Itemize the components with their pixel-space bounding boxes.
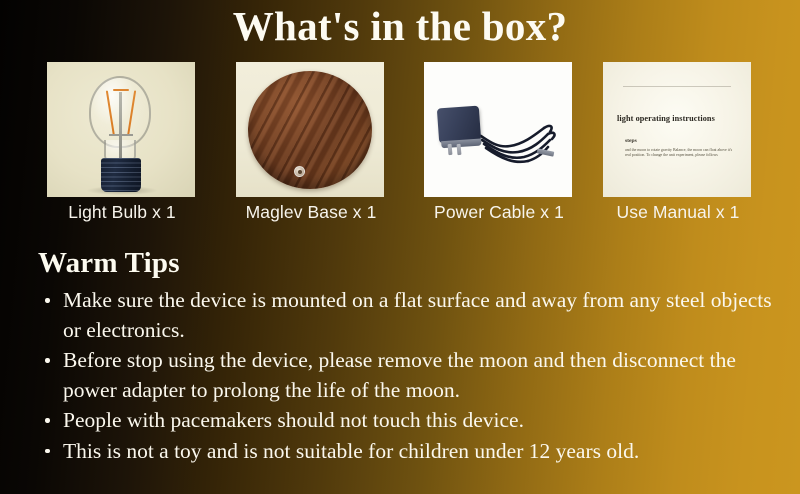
maglev-base-image xyxy=(236,62,384,197)
power-cable-image xyxy=(424,62,572,197)
use-manual-body-text: and the moon to rotate gravity Balance, … xyxy=(625,148,733,159)
product-caption: Use Manual x 1 xyxy=(603,202,753,223)
product-item-use-manual: light operating instructions steps and t… xyxy=(603,62,753,223)
product-item-power-cable: Power Cable x 1 xyxy=(424,62,574,223)
maglev-base-logo-icon xyxy=(294,166,305,177)
use-manual-subheading-text: steps xyxy=(625,138,637,144)
use-manual-backdrop xyxy=(603,62,751,197)
bullet-icon xyxy=(45,298,50,303)
use-manual-divider xyxy=(623,86,731,87)
bullet-icon xyxy=(45,449,50,454)
bullet-icon xyxy=(45,418,50,423)
product-list: Light Bulb x 1 Maglev Base x 1 xyxy=(0,62,800,227)
product-caption: Maglev Base x 1 xyxy=(236,202,386,223)
warm-tips-list: Make sure the device is mounted on a fla… xyxy=(40,286,775,467)
product-caption: Power Cable x 1 xyxy=(424,202,574,223)
maglev-base-wooden-disc xyxy=(248,71,372,189)
use-manual-image: light operating instructions steps and t… xyxy=(603,62,751,197)
light-bulb-image xyxy=(47,62,195,197)
light-bulb-stem xyxy=(119,92,122,160)
light-bulb-filament-base xyxy=(109,134,133,136)
bullet-icon xyxy=(45,358,50,363)
product-caption: Light Bulb x 1 xyxy=(47,202,197,223)
warm-tips-item-text: People with pacemakers should not touch … xyxy=(63,408,524,432)
warm-tips-heading: Warm Tips xyxy=(38,247,180,280)
product-info-banner: What's in the box? Light Bulb x 1 xyxy=(0,0,800,494)
page-title: What's in the box? xyxy=(0,2,800,50)
product-item-light-bulb: Light Bulb x 1 xyxy=(47,62,197,223)
warm-tips-item: Make sure the device is mounted on a fla… xyxy=(40,286,775,345)
power-adapter-body xyxy=(437,106,481,144)
product-item-maglev-base: Maglev Base x 1 xyxy=(236,62,386,223)
light-bulb-screw-base xyxy=(101,158,141,192)
warm-tips-item-text: This is not a toy and is not suitable fo… xyxy=(63,439,639,463)
warm-tips-item: People with pacemakers should not touch … xyxy=(40,406,775,436)
use-manual-title-text: light operating instructions xyxy=(617,114,741,123)
warm-tips-item-text: Before stop using the device, please rem… xyxy=(63,348,736,402)
power-adapter-prong-left xyxy=(448,144,453,155)
warm-tips-item: This is not a toy and is not suitable fo… xyxy=(40,437,775,467)
power-adapter-prong-right xyxy=(457,144,462,155)
warm-tips-item: Before stop using the device, please rem… xyxy=(40,346,775,405)
warm-tips-item-text: Make sure the device is mounted on a fla… xyxy=(63,288,772,342)
